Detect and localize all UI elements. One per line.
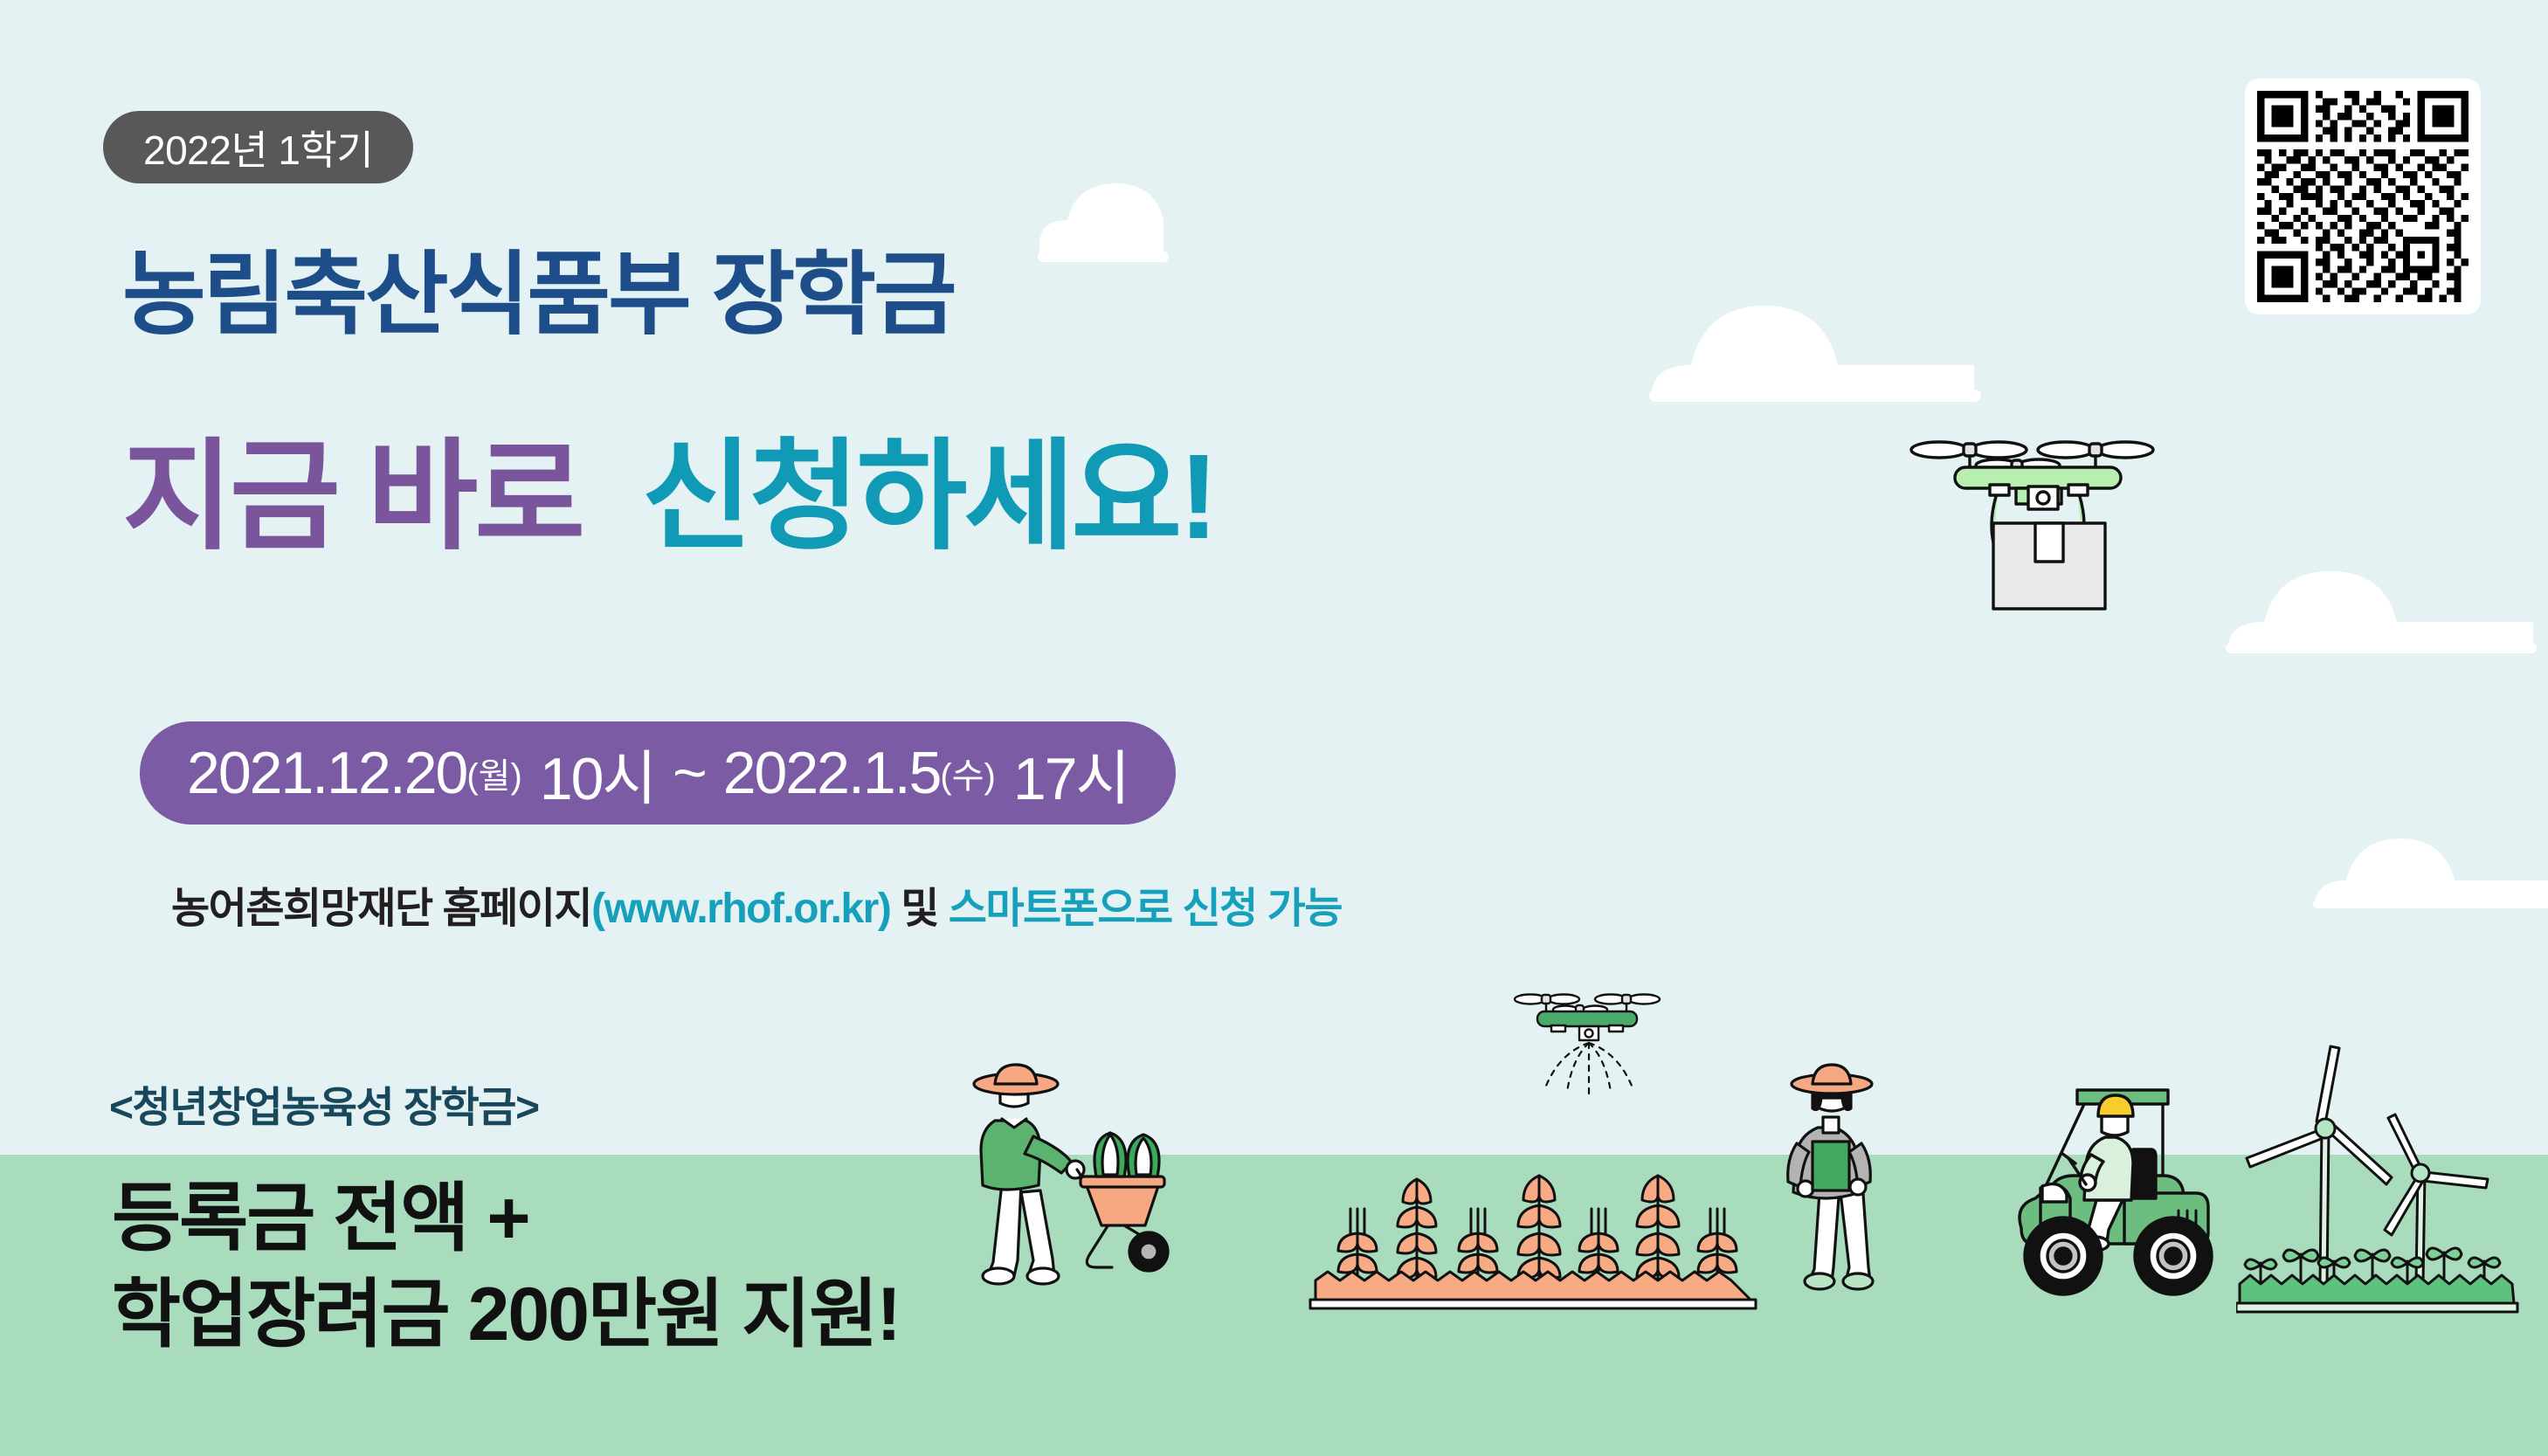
- cloud-top-right: [1625, 262, 2035, 419]
- scholarship-type-text: <청년창업농육성 장학금>: [109, 1085, 539, 1131]
- period-start-day: (월): [466, 748, 521, 798]
- smartphone-channel: 스마트폰으로 신청 가능: [949, 886, 1342, 932]
- application-period-pill: 2021.12.20 (월) 10시 ~ 2022.1.5 (수) 17시: [140, 721, 1176, 825]
- cloud-lower-right: [2306, 821, 2548, 926]
- headline-line2: 지금 바로 신청하세요!: [122, 437, 1215, 557]
- headline-line2-part2: 신청하세요!: [642, 430, 1216, 564]
- wheat-crop-field: [1307, 1153, 1770, 1310]
- period-start-date: 2021.12.20: [187, 739, 466, 807]
- period-end-day: (수): [940, 748, 995, 798]
- benefit-text: 등록금 전액 + 학업장려금 200만원 지원!: [112, 1170, 900, 1363]
- delivery-drone-with-package: [1887, 415, 2175, 642]
- cloud-mid-right: [2219, 542, 2548, 673]
- semester-badge: 2022년 1학기: [103, 111, 413, 183]
- cloud-top-left: [1022, 157, 1310, 279]
- qr-code-image: [2257, 91, 2469, 302]
- benefit-line2: 학업장려금 200만원 지원!: [112, 1266, 900, 1363]
- channel-conjunction: 및: [901, 886, 938, 932]
- foundation-url[interactable]: (www.rhof.or.kr): [591, 886, 890, 932]
- wind-turbines-with-seedlings: [2236, 1031, 2548, 1328]
- foundation-name: 농어촌희망재단 홈페이지: [171, 886, 591, 932]
- promotional-poster: 2022년 1학기 농림축산식품부 장학금 지금 바로 신청하세요! 2021.…: [0, 0, 2548, 1456]
- green-tractor-with-driver: [2000, 1046, 2271, 1308]
- headline-line1-text: 농림축산식품부 장학금: [122, 245, 955, 346]
- farmer-holding-tablet: [1778, 1052, 1935, 1306]
- period-end-date: 2022.1.5: [723, 739, 941, 807]
- farmer-pushing-wheelbarrow-with-cabbages: [956, 1052, 1219, 1306]
- headline-line2-part1: 지금 바로: [122, 430, 582, 564]
- headline-line1: 농림축산식품부 장학금: [122, 250, 955, 341]
- period-separator: ~: [673, 739, 706, 807]
- application-channel-line: 농어촌희망재단 홈페이지(www.rhof.or.kr) 및 스마트폰으로 신청…: [171, 873, 1342, 935]
- qr-code[interactable]: [2245, 79, 2481, 314]
- semester-badge-label: 2022년 1학기: [143, 119, 373, 176]
- crop-spraying-drone: [1504, 987, 1670, 1118]
- period-start-time: 10시: [540, 730, 655, 817]
- scholarship-type-label: <청년창업농육성 장학금>: [109, 1073, 539, 1134]
- benefit-line1: 등록금 전액 +: [112, 1170, 900, 1266]
- period-end-time: 17시: [1013, 730, 1129, 817]
